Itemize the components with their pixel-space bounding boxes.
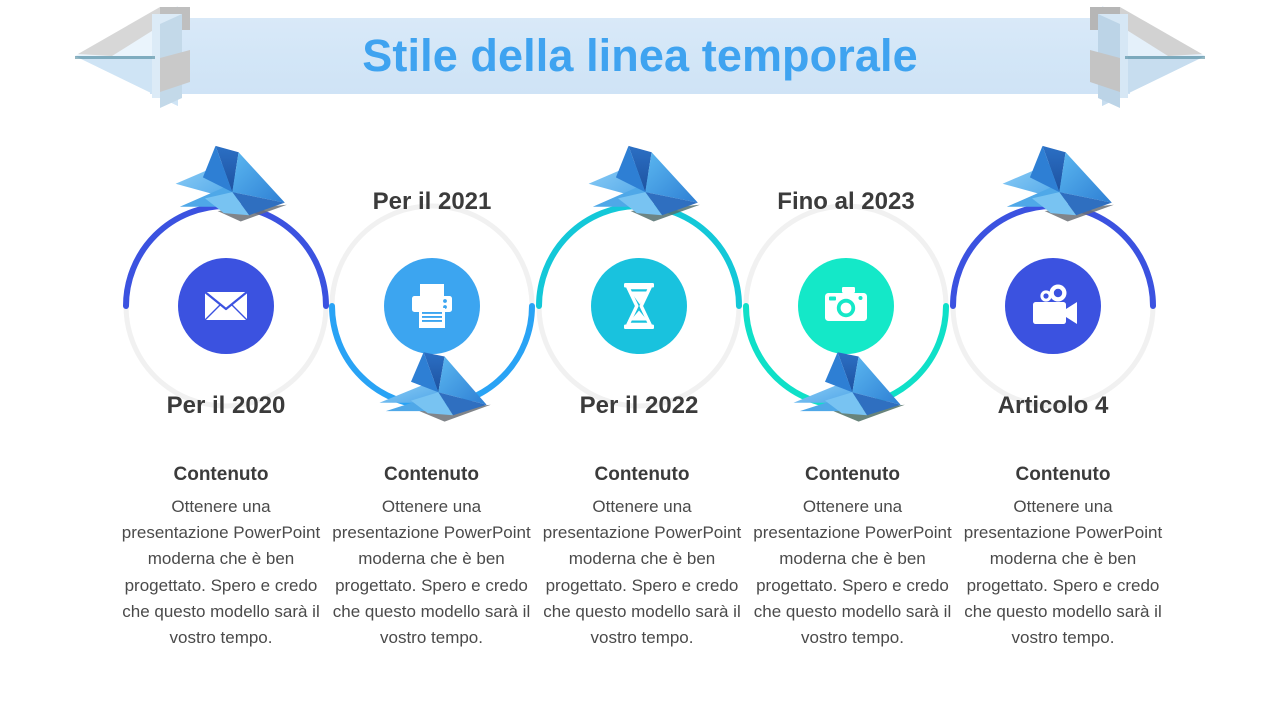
column-heading: Contenuto: [118, 462, 324, 488]
node-label-5: Articolo 4: [953, 392, 1153, 420]
icon-disc-2[interactable]: [384, 258, 480, 354]
page-title: Stile della linea temporale: [0, 0, 1280, 112]
timeline-area: Per il 2020 Per il 2021 Per il 2022 Fino…: [0, 130, 1280, 460]
content-column-1: Contenuto Ottenere una presentazione Pow…: [118, 462, 324, 692]
column-body: Ottenere una presentazione PowerPoint mo…: [750, 494, 956, 652]
column-body: Ottenere una presentazione PowerPoint mo…: [539, 494, 745, 652]
content-column-4: Contenuto Ottenere una presentazione Pow…: [750, 462, 956, 692]
icon-disc-5[interactable]: [1005, 258, 1101, 354]
column-body: Ottenere una presentazione PowerPoint mo…: [329, 494, 535, 652]
content-column-3: Contenuto Ottenere una presentazione Pow…: [539, 462, 745, 692]
column-heading: Contenuto: [539, 462, 745, 488]
node-label-1: Per il 2020: [126, 392, 326, 420]
column-heading: Contenuto: [960, 462, 1166, 488]
node-label-4: Fino al 2023: [746, 188, 946, 216]
column-heading: Contenuto: [329, 462, 535, 488]
column-body: Ottenere una presentazione PowerPoint mo…: [960, 494, 1166, 652]
icon-disc-3[interactable]: [591, 258, 687, 354]
column-body: Ottenere una presentazione PowerPoint mo…: [118, 494, 324, 652]
title-banner: Stile della linea temporale: [0, 0, 1280, 112]
node-label-2: Per il 2021: [332, 188, 532, 216]
icon-disc-1[interactable]: [178, 258, 274, 354]
envelope-icon: [205, 292, 247, 320]
column-heading: Contenuto: [750, 462, 956, 488]
content-column-5: Contenuto Ottenere una presentazione Pow…: [960, 462, 1166, 692]
content-columns: Contenuto Ottenere una presentazione Pow…: [118, 462, 1166, 692]
origami-paper-plane-2: [380, 352, 491, 421]
slide-canvas: Stile della linea temporale: [0, 0, 1280, 720]
origami-paper-plane-4: [794, 352, 905, 421]
content-column-2: Contenuto Ottenere una presentazione Pow…: [329, 462, 535, 692]
node-label-3: Per il 2022: [539, 392, 739, 420]
icon-disc-4[interactable]: [798, 258, 894, 354]
